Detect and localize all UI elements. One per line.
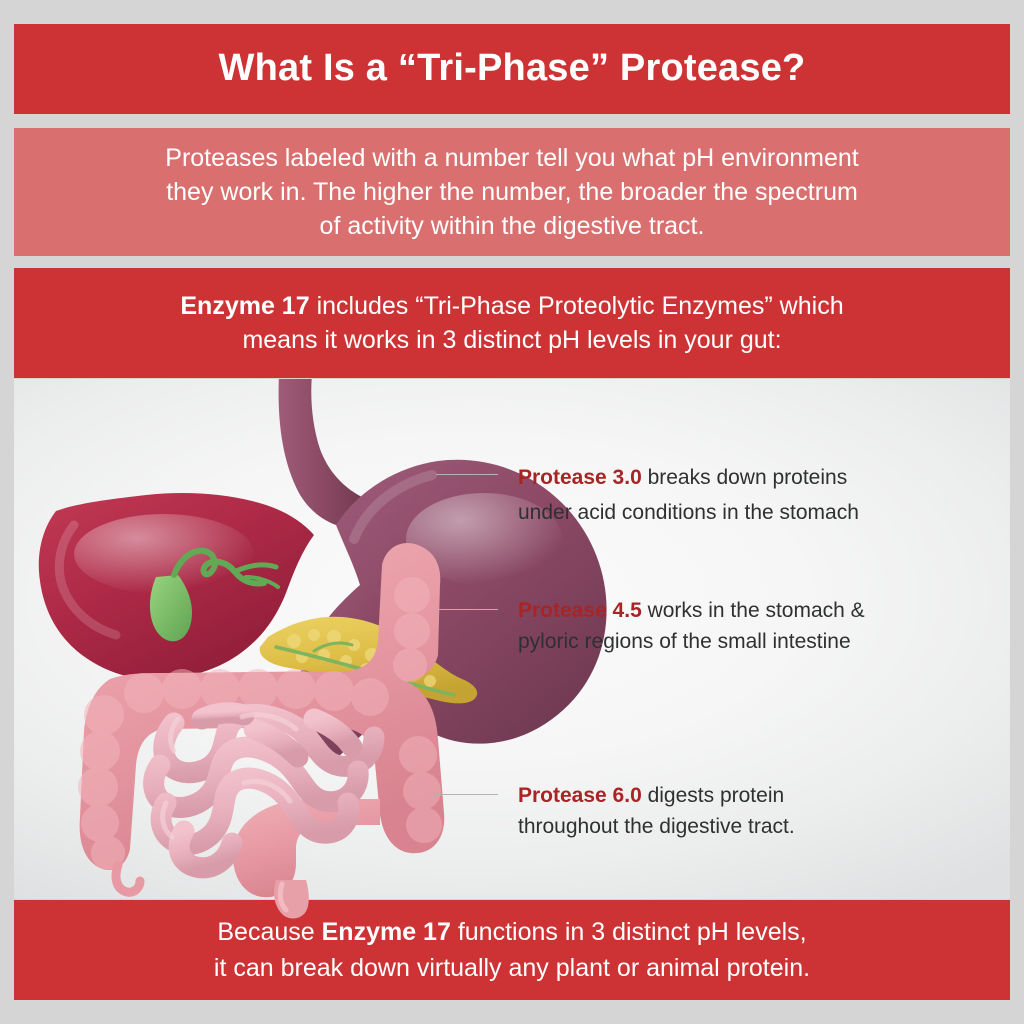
leader-line-icon <box>436 794 498 795</box>
enzyme-line-2: means it works in 3 distinct pH levels i… <box>242 323 781 357</box>
intro-line-3: of activity within the digestive tract. <box>320 209 705 243</box>
callout-line-1-rest: breaks down proteins <box>642 466 847 489</box>
callout-text: Protease 4.5 works in the stomach & pylo… <box>518 595 865 657</box>
footer-line-1-pre: Because <box>217 918 321 946</box>
intro-band: Proteases labeled with a number tell you… <box>14 128 1010 256</box>
callout-line-1: Protease 3.0 breaks down proteins <box>518 460 859 495</box>
callout-line-1: Protease 4.5 works in the stomach & <box>518 595 865 626</box>
protease-tag: Protease 3.0 <box>518 466 642 489</box>
callout-text: Protease 3.0 breaks down proteins under … <box>518 460 859 530</box>
intro-line-1: Proteases labeled with a number tell you… <box>165 141 858 175</box>
callout-text: Protease 6.0 digests protein throughout … <box>518 780 795 842</box>
callout-protease-6: Protease 6.0 digests protein throughout … <box>436 780 795 842</box>
enzyme-statement-band: Enzyme 17 includes “Tri-Phase Proteolyti… <box>14 268 1010 378</box>
infographic-page: What Is a “Tri-Phase” Protease? Protease… <box>0 0 1024 1024</box>
callout-protease-45: Protease 4.5 works in the stomach & pylo… <box>436 595 865 657</box>
footer-line-1: Because Enzyme 17 functions in 3 distinc… <box>217 914 806 950</box>
esophagus-organ <box>279 379 366 525</box>
enzyme-name-bold: Enzyme 17 <box>322 918 451 946</box>
protease-tag: Protease 6.0 <box>518 784 642 807</box>
enzyme-name-bold: Enzyme 17 <box>180 292 309 320</box>
leader-line-icon <box>436 474 498 475</box>
page-title: What Is a “Tri-Phase” Protease? <box>219 46 806 92</box>
protease-tag: Protease 4.5 <box>518 599 642 622</box>
callout-line-1-rest: digests protein <box>642 784 784 807</box>
callout-line-1: Protease 6.0 digests protein <box>518 780 795 811</box>
intro-line-2: they work in. The higher the number, the… <box>166 175 858 209</box>
callout-line-2: under acid conditions in the stomach <box>518 495 859 530</box>
enzyme-line-1-rest: includes “Tri-Phase Proteolytic Enzymes”… <box>310 292 844 320</box>
enzyme-line-1: Enzyme 17 includes “Tri-Phase Proteolyti… <box>180 289 843 323</box>
callout-line-2: throughout the digestive tract. <box>518 811 795 842</box>
callout-line-1-rest: works in the stomach & <box>642 599 865 622</box>
leader-line-icon <box>436 609 498 610</box>
footer-band: Because Enzyme 17 functions in 3 distinc… <box>14 900 1010 1000</box>
footer-line-2: it can break down virtually any plant or… <box>214 950 810 986</box>
callout-line-2: pyloric regions of the small intestine <box>518 626 865 657</box>
footer-line-1-post: functions in 3 distinct pH levels, <box>451 918 807 946</box>
title-band: What Is a “Tri-Phase” Protease? <box>14 24 1010 114</box>
callout-protease-3: Protease 3.0 breaks down proteins under … <box>436 460 859 530</box>
